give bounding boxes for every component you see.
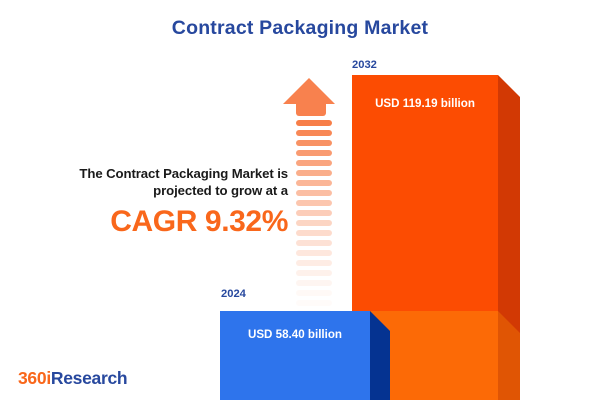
arrow-stem-segment — [296, 180, 332, 186]
arrow-stem-segment — [296, 210, 332, 216]
arrow-neck-shape — [296, 104, 326, 116]
brand-logo: 360iResearch — [18, 368, 127, 389]
arrow-stem-segment — [296, 150, 332, 156]
arrow-stem-segment — [296, 300, 332, 306]
arrow-stem-segment — [296, 260, 332, 266]
bar-value-2032: USD 119.19 billion — [352, 97, 498, 110]
arrow-stem-segment — [296, 240, 332, 246]
arrow-stem-segment — [296, 230, 332, 236]
arrow-stem-segment — [296, 170, 332, 176]
bar-value-2024: USD 58.40 billion — [220, 328, 370, 341]
arrow-stem-segment — [296, 160, 332, 166]
bar-label-year-2024: 2024 — [221, 288, 246, 300]
cagr-annotation-block: The Contract Packaging Market is project… — [16, 165, 288, 238]
logo-text-research: Research — [51, 368, 127, 388]
cagr-lead-line-2: projected to grow at a — [16, 182, 288, 199]
cagr-lead-line-1: The Contract Packaging Market is — [16, 165, 288, 182]
bar-2024-front-face — [220, 311, 370, 400]
bar-label-year-2032: 2032 — [352, 59, 377, 71]
infographic-canvas: Contract Packaging Market The Contract P… — [0, 0, 600, 400]
arrow-stem-segment — [296, 190, 332, 196]
arrow-stem-segment — [296, 140, 332, 146]
arrow-stem-segment — [296, 280, 332, 286]
logo-text-360: 360 — [18, 368, 46, 388]
arrow-stem-segment — [296, 290, 332, 296]
arrow-stem-segment — [296, 120, 332, 126]
cagr-lead-text: The Contract Packaging Market is project… — [16, 165, 288, 200]
arrow-head-shape — [283, 78, 335, 104]
page-title: Contract Packaging Market — [0, 17, 600, 40]
arrow-stem-segment — [296, 130, 332, 136]
arrow-stem-segment — [296, 270, 332, 276]
cagr-value: CAGR 9.32% — [16, 206, 288, 238]
arrow-stem-segment — [296, 220, 332, 226]
upward-growth-arrow-icon — [283, 78, 339, 290]
arrow-stem-segment — [296, 200, 332, 206]
arrow-stem-segment — [296, 250, 332, 256]
arrow-stem-segments — [296, 120, 332, 320]
